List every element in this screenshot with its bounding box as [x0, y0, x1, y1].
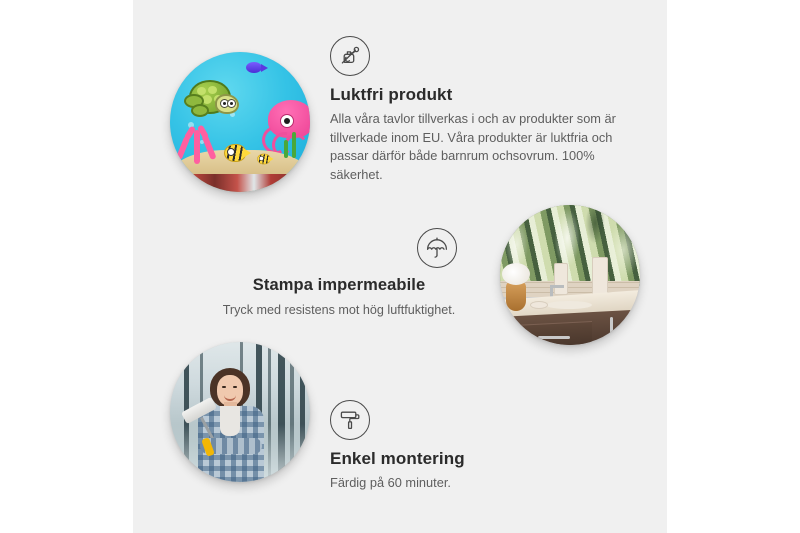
vanity-drawer — [514, 321, 592, 345]
feature-waterproof-print: Stampa impermeabile Tryck med resistens … — [205, 228, 473, 319]
woman-with-paint-roller-forest-photo — [170, 342, 310, 482]
feature-title: Stampa impermeabile — [205, 276, 473, 296]
scene-bottom-strip — [170, 174, 310, 192]
drawer-handle — [538, 336, 570, 339]
soap-dish-icon — [530, 301, 548, 309]
gold-vase-icon — [506, 281, 526, 311]
sink-basin — [546, 301, 592, 309]
seaweed-icon — [292, 132, 296, 158]
woman-tshirt — [220, 406, 240, 436]
feature-description: Tryck med resistens mot hög luftfuktighe… — [205, 301, 473, 319]
turtle-icon — [185, 78, 237, 116]
yellow-fish-icon — [224, 144, 250, 162]
umbrella-icon — [417, 228, 457, 268]
screenshot-stage: Luktfri produkt Alla våra tavlor tillver… — [0, 0, 800, 533]
forest-scene-art — [170, 342, 310, 482]
feature-odor-free: Luktfri produkt Alla våra tavlor tillver… — [330, 36, 630, 185]
coral-icon — [176, 124, 222, 164]
feature-easy-mounting: Enkel montering Färdig på 60 minuter. — [330, 400, 570, 493]
feature-description: Alla våra tavlor tillverkas i och av pro… — [330, 110, 630, 184]
underwater-scene-art — [170, 52, 310, 192]
no-fragrance-icon — [330, 36, 370, 76]
bathroom-scene-art — [500, 205, 640, 345]
yellow-fish-icon — [257, 154, 273, 165]
feature-description: Färdig på 60 minuter. — [330, 474, 570, 493]
cabinet-handle — [610, 317, 613, 343]
feature-title: Luktfri produkt — [330, 85, 630, 105]
seaweed-icon — [284, 140, 288, 158]
underwater-kids-scene-photo — [170, 52, 310, 192]
feature-title: Enkel montering — [330, 449, 570, 469]
bathroom-tropical-wallpaper-photo — [500, 205, 640, 345]
white-flowers-icon — [502, 263, 530, 285]
soap-bottle-icon — [592, 257, 608, 297]
paint-roller-icon — [330, 400, 370, 440]
blue-fish-icon — [246, 62, 268, 75]
soap-bottle-icon — [554, 263, 568, 295]
